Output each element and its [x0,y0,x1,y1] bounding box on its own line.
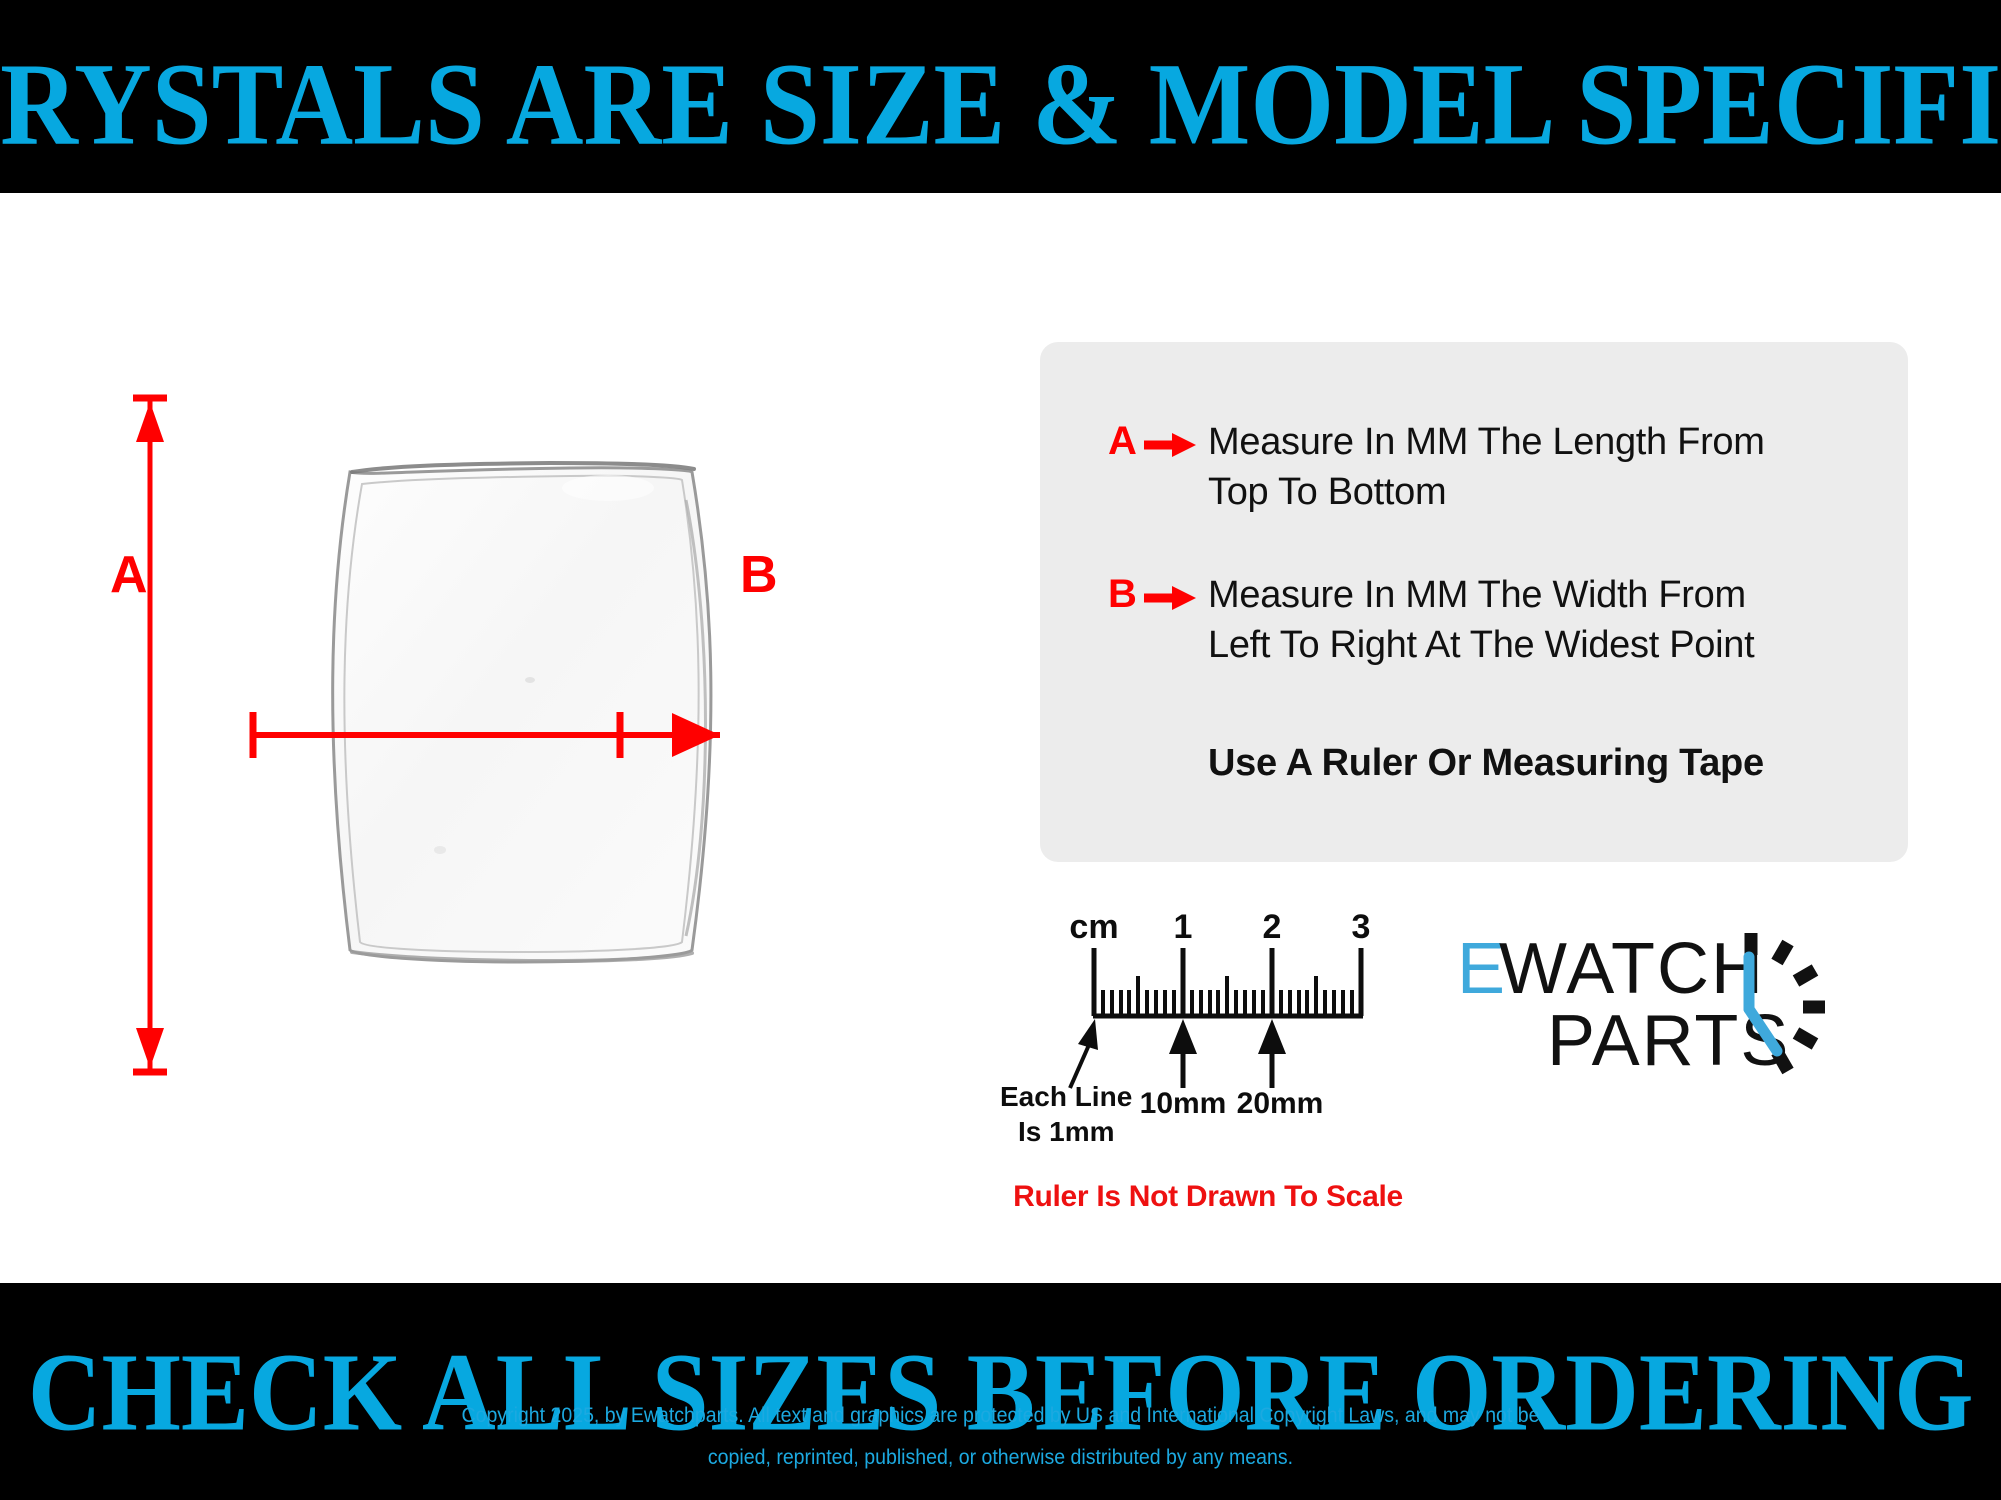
logo-artwork: E WATCH PARTS [1455,915,1855,1095]
instruction-text-b-line1: Measure In MM The Width From [1208,574,1746,616]
ruler-unit-label: cm [1069,908,1118,946]
dimension-label-b: B [740,545,778,605]
ewatchparts-logo: E WATCH PARTS [1455,915,1855,1095]
logo-word-watch: WATCH [1499,929,1765,1009]
ruler-scale-disclaimer: Ruler Is Not Drawn To Scale [988,1180,1428,1214]
right-arrow-icon [1142,431,1198,464]
right-arrow-icon [1142,584,1198,617]
ruler-tick-label-2: 2 [1263,908,1282,946]
instruction-note: Use A Ruler Or Measuring Tape [1208,742,1764,785]
ruler-illustration: cm 1 2 3 Each Line Is 1mm 10mm 20mm [988,898,1420,1210]
instruction-text-a-line1: Measure In MM The Length From [1208,421,1765,463]
measuring-instructions-panel: A Measure In MM The Length From Top To B… [1040,342,1908,862]
ruler-tick-label-3: 3 [1352,908,1371,946]
top-banner-headline: CRYSTALS ARE SIZE & MODEL SPECIFIC [0,45,2001,163]
crystal-measurement-diagram: A B [120,380,880,1100]
instruction-row-a: A Measure In MM The Length From Top To B… [1108,417,1765,517]
dimension-arrow-a [133,398,167,1072]
ruler-diagram: cm 1 2 3 Each Line Is 1mm 10mm 20mm [988,898,1420,1210]
ruler-callout-each-line-2: Is 1mm [1018,1116,1115,1147]
top-banner: CRYSTALS ARE SIZE & MODEL SPECIFIC [0,0,2001,193]
ruler-callout-10mm: 10mm [1140,1087,1227,1120]
copyright-line-1: Copyright 2025, by Ewatchparts. All text… [70,1395,1931,1437]
crystal-glass-shape [333,463,711,962]
ruler-tick-label-1: 1 [1174,908,1193,946]
copyright-line-2: copied, reprinted, published, or otherwi… [70,1437,1931,1479]
crystal-illustration [120,380,1020,1100]
ruler-callout-each-line-1: Each Line [1000,1081,1132,1112]
instruction-text-b-line2: Left To Right At The Widest Point [1208,624,1754,666]
instruction-marker-a: A [1108,417,1142,465]
instruction-text-a: Measure In MM The Length From Top To Bot… [1208,417,1765,517]
dimension-label-a: A [110,545,148,605]
instruction-text-a-line2: Top To Bottom [1208,471,1446,513]
instruction-text-b: Measure In MM The Width From Left To Rig… [1208,570,1754,670]
instruction-row-b: B Measure In MM The Width From Left To R… [1108,570,1754,670]
instruction-marker-b: B [1108,570,1142,618]
ruler-callout-20mm: 20mm [1237,1087,1324,1120]
